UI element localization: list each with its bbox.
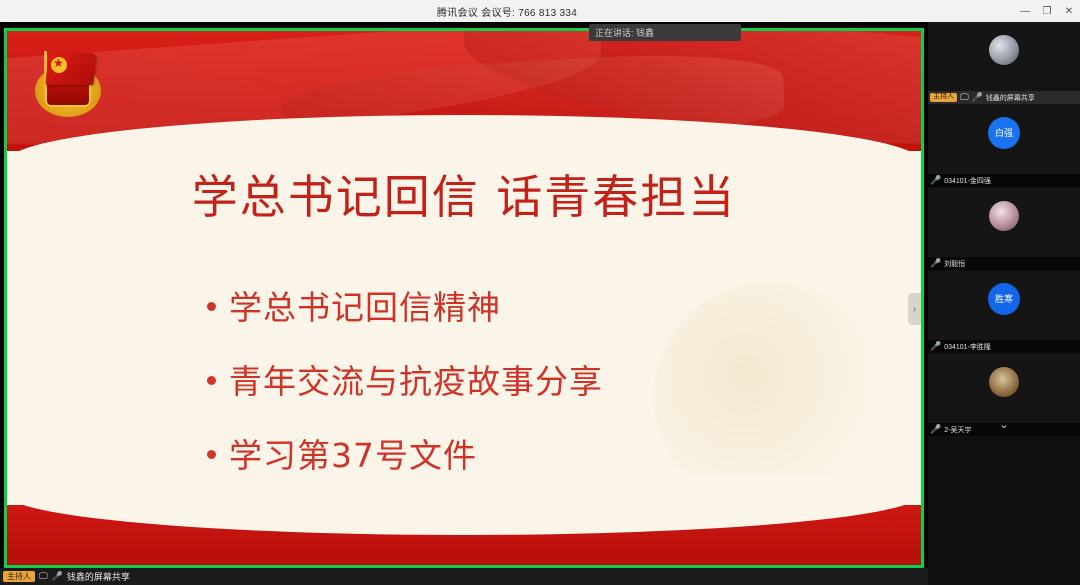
presentation-slide: 学总书记回信 话青春担当 学总书记回信精神 青年交流与抗疫故事分享 学习第37号…	[7, 31, 921, 565]
participant-label-bar-0: 主持人 🖵 🎤 钱鑫的屏幕共享	[928, 91, 1080, 104]
avatar	[989, 201, 1019, 231]
chevron-down-icon[interactable]: ⌄	[999, 418, 1008, 431]
tencent-meeting-window: 腾讯会议 会议号: 766 813 334 — ❐ ✕	[0, 0, 1080, 585]
bullet-dot-icon	[207, 376, 216, 385]
avatar: 白强	[988, 117, 1020, 149]
screen-share-frame: 学总书记回信 话青春担当 学总书记回信精神 青年交流与抗疫故事分享 学习第37号…	[4, 28, 924, 568]
microphone-muted-icon: 🎤	[930, 258, 941, 269]
bullet-dot-icon	[207, 302, 216, 311]
slide-banner-top	[7, 31, 921, 151]
participant-label-bar-1: 🎤 034101-金四强	[928, 174, 1080, 187]
list-item: 学总书记回信精神	[207, 281, 847, 329]
bullet-text: 青年交流与抗疫故事分享	[229, 355, 603, 403]
screen-share-icon: 🖵	[39, 571, 48, 582]
participant-tile-3[interactable]: 胜寒 🎤 034101-李胜隆	[928, 271, 1080, 353]
host-badge: 主持人	[930, 93, 957, 101]
participant-rail[interactable]: 主持人 🖵 🎤 钱鑫的屏幕共享 白强 🎤 034101-金四强 🎤 刘毅恒	[928, 22, 1080, 585]
microphone-icon: 🎤	[52, 571, 63, 582]
minimize-icon[interactable]: —	[1014, 0, 1036, 22]
slide-banner-bottom	[7, 505, 921, 565]
slide-title: 学总书记回信 话青春担当	[7, 171, 921, 224]
bullet-dot-icon	[207, 450, 216, 459]
microphone-muted-icon: 🎤	[930, 175, 941, 186]
bullet-text: 学总书记回信精神	[229, 281, 501, 329]
participant-name: 2-吴天宇	[944, 425, 971, 435]
shared-screen-stage: 学总书记回信 话青春担当 学总书记回信精神 青年交流与抗疫故事分享 学习第37号…	[0, 22, 928, 585]
speaking-indicator: 正在讲话: 钱鑫	[589, 24, 741, 41]
window-title-bar: 腾讯会议 会议号: 766 813 334 — ❐ ✕	[0, 0, 1080, 22]
share-owner-name: 钱鑫的屏幕共享	[67, 570, 130, 583]
participant-label-bar-3: 🎤 034101-李胜隆	[928, 340, 1080, 353]
participant-name: 034101-金四强	[944, 176, 991, 186]
avatar	[989, 35, 1019, 65]
participant-tile-4[interactable]: 🎤 2-吴天宇 ⌄	[928, 354, 1080, 436]
microphone-icon: 🎤	[972, 92, 983, 103]
speaking-indicator-text: 正在讲话: 钱鑫	[595, 26, 654, 39]
maximize-icon[interactable]: ❐	[1036, 0, 1058, 22]
share-status-bar: 主持人 🖵 🎤 钱鑫的屏幕共享	[0, 568, 928, 585]
participant-name: 钱鑫的屏幕共享	[986, 93, 1035, 103]
screen-share-icon: 🖵	[960, 92, 969, 103]
participant-tile-2[interactable]: 🎤 刘毅恒	[928, 188, 1080, 270]
participant-tile-1[interactable]: 白强 🎤 034101-金四强	[928, 105, 1080, 187]
participant-label-bar-4: 🎤 2-吴天宇 ⌄	[928, 423, 1080, 436]
microphone-muted-icon: 🎤	[930, 424, 941, 435]
microphone-muted-icon: 🎤	[930, 341, 941, 352]
avatar	[989, 367, 1019, 397]
close-icon[interactable]: ✕	[1058, 0, 1080, 22]
bullet-text: 学习第37号文件	[229, 429, 477, 477]
participant-label-bar-2: 🎤 刘毅恒	[928, 257, 1080, 270]
youth-league-emblem-icon	[29, 51, 107, 121]
list-item: 青年交流与抗疫故事分享	[207, 355, 847, 403]
avatar: 胜寒	[988, 283, 1020, 315]
participant-tile-0[interactable]: 主持人 🖵 🎤 钱鑫的屏幕共享	[928, 22, 1080, 104]
emblem-star-icon	[51, 57, 67, 73]
participant-name: 034101-李胜隆	[944, 342, 991, 352]
participant-name: 刘毅恒	[944, 259, 965, 269]
chevron-right-icon[interactable]: ›	[908, 293, 921, 325]
list-item: 学习第37号文件	[207, 429, 847, 477]
window-title: 腾讯会议 会议号: 766 813 334	[0, 4, 1014, 19]
host-badge: 主持人	[3, 571, 35, 583]
window-controls: — ❐ ✕	[1014, 0, 1080, 22]
